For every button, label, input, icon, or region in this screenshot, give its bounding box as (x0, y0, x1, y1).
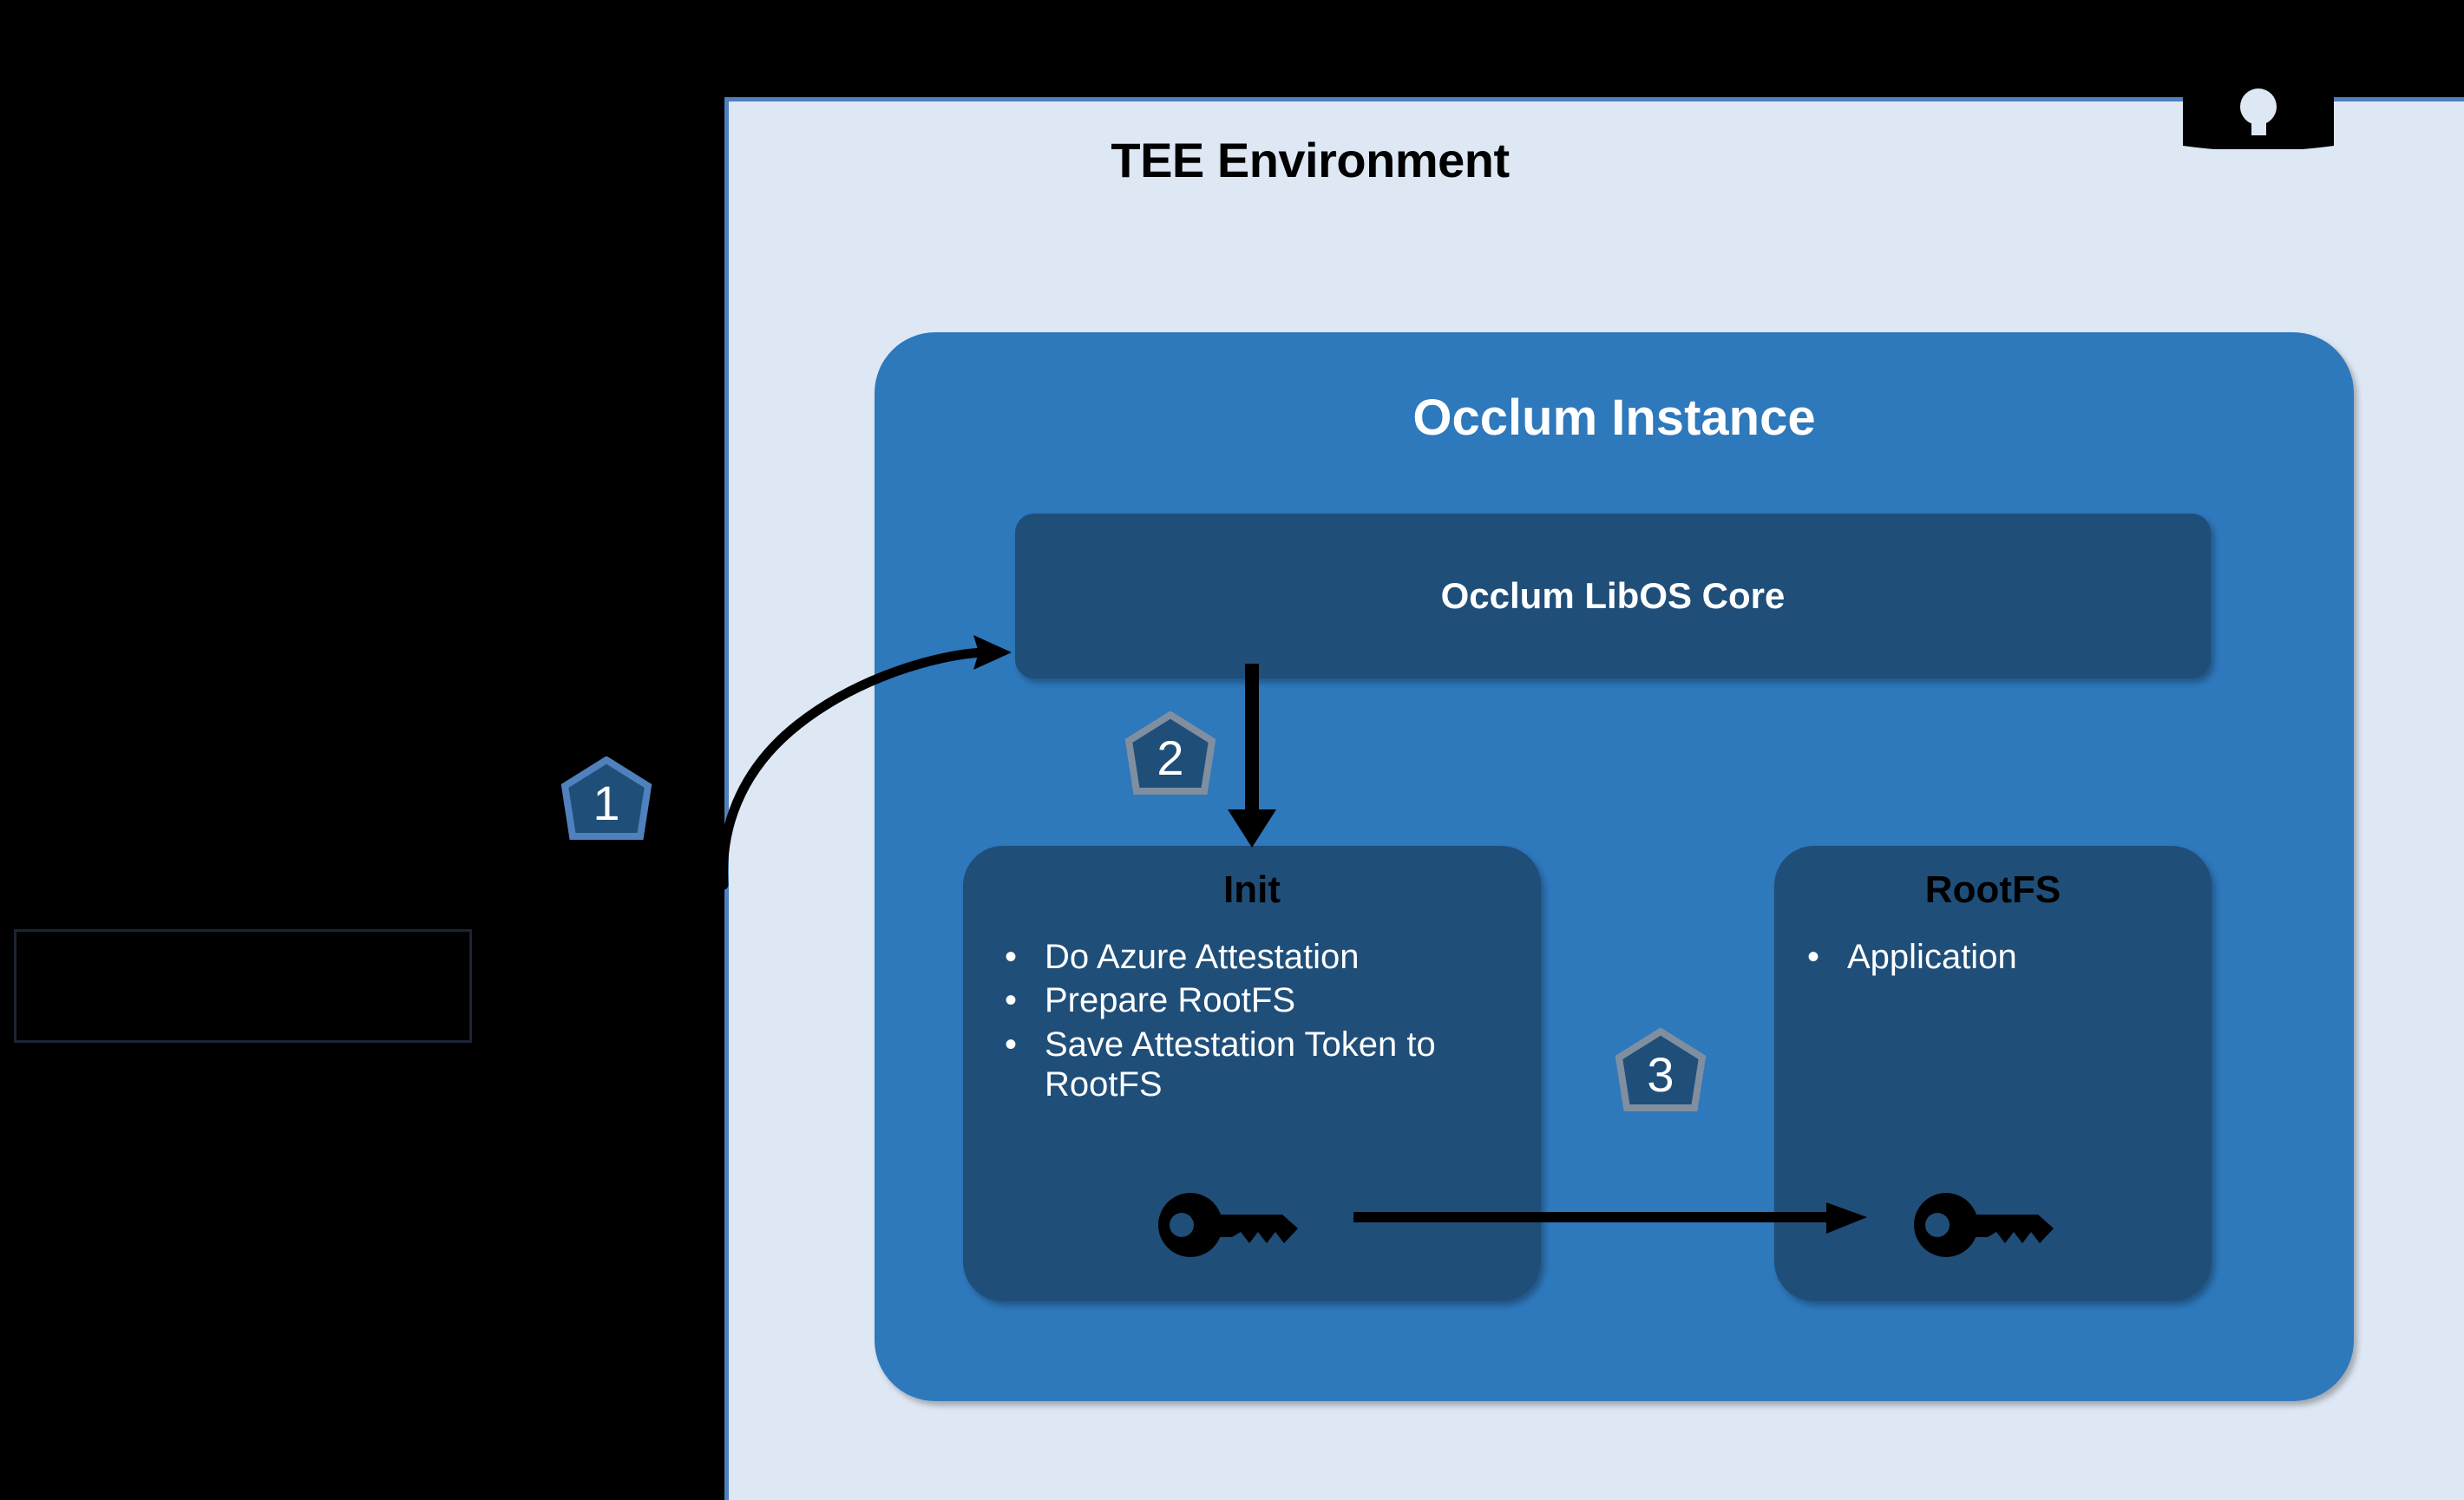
list-item-label: Save Attestation Token to RootFS (1045, 1025, 1508, 1105)
step-badge-2: 2 (1119, 711, 1222, 809)
step-badge-1: 1 (555, 757, 658, 854)
bullet-glyph: • (1005, 980, 1045, 1020)
tee-environment-title: TEE Environment (729, 132, 1891, 188)
list-item: • Prepare RootFS (1005, 980, 1508, 1020)
rootfs-title: RootFS (1774, 868, 2212, 912)
key-icon (1157, 1192, 1305, 1258)
step-badge-1-number: 1 (593, 779, 619, 831)
list-item: • Application (1807, 937, 2198, 977)
arrow-curved-icon (694, 573, 1058, 885)
step-badge-3-number: 3 (1647, 1051, 1674, 1103)
list-item-label: Do Azure Attestation (1045, 937, 1508, 977)
occlum-instance-title: Occlum Instance (875, 389, 2354, 447)
empty-outline-box (14, 929, 472, 1043)
rootfs-bullet-list: • Application (1807, 937, 2198, 980)
list-item: • Save Attestation Token to RootFS (1005, 1025, 1508, 1105)
bullet-glyph: • (1005, 1025, 1045, 1064)
step-badge-3: 3 (1609, 1028, 1712, 1125)
bullet-glyph: • (1005, 937, 1045, 977)
init-bullet-list: • Do Azure Attestation • Prepare RootFS … (1005, 937, 1508, 1109)
padlock-icon (2167, 35, 2349, 149)
occlum-libos-core-box: Occlum LibOS Core (1015, 514, 2211, 678)
occlum-libos-core-label: Occlum LibOS Core (1441, 575, 1786, 617)
list-item-label: Prepare RootFS (1045, 980, 1508, 1020)
arrow-right-icon (1353, 1197, 1874, 1241)
bullet-glyph: • (1807, 937, 1847, 977)
key-icon (1913, 1192, 2061, 1258)
step-badge-2-number: 2 (1157, 734, 1183, 786)
left-blank-region (0, 0, 729, 1500)
arrow-down-icon (1215, 664, 1353, 850)
list-item: • Do Azure Attestation (1005, 937, 1508, 977)
list-item-label: Application (1847, 937, 2198, 977)
